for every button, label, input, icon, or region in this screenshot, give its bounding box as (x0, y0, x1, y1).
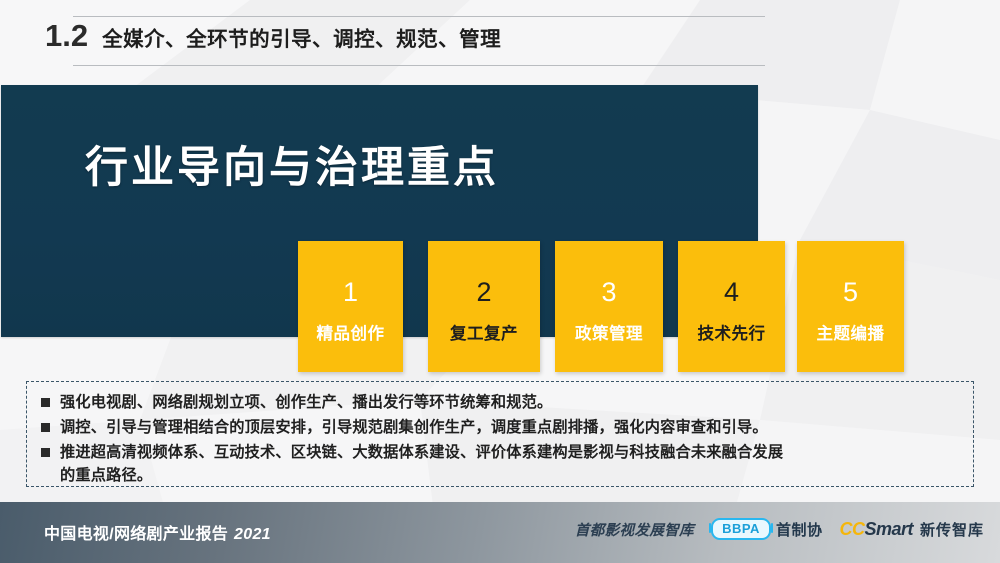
step-box-4[interactable]: 4 技术先行 (678, 241, 785, 372)
step-number-5: 5 (843, 279, 858, 306)
section-number: 1.2 (45, 20, 88, 51)
step-number-2: 2 (476, 279, 491, 306)
step-box-5[interactable]: 5 主题编播 (797, 241, 904, 372)
step-label-5: 主题编播 (817, 326, 885, 343)
step-label-2: 复工复产 (450, 326, 518, 343)
bbpa-logo: BBPA 首制协 (711, 518, 822, 540)
bullet-square-icon (41, 423, 50, 432)
bullet-text-3-continuation: 的重点路径。 (60, 464, 783, 487)
step-label-1: 精品创作 (317, 326, 385, 343)
section-title: 全媒介、全环节的引导、调控、规范、管理 (102, 30, 501, 51)
bullet-item: 调控、引导与管理相结合的顶层安排，引导规范剧集创作生产，调度重点剧排播，强化内容… (37, 416, 959, 439)
step-number-3: 3 (601, 279, 616, 306)
step-box-3[interactable]: 3 政策管理 (555, 241, 663, 372)
step-number-4: 4 (724, 279, 739, 306)
step-box-2[interactable]: 2 复工复产 (428, 241, 540, 372)
hero-panel-title: 行业导向与治理重点 (85, 147, 499, 190)
bullet-text-3-wrap: 推进超高清视频体系、互动技术、区块链、大数据体系建设、评价体系建构是影视与科技融… (60, 441, 783, 487)
bbpa-logo-label: 首制协 (776, 519, 823, 540)
step-box-group: 1 精品创作 2 复工复产 3 政策管理 4 技术先行 5 主题编播 (298, 241, 904, 372)
think-tank-logo: 首都影视发展智库 (575, 519, 694, 540)
footer-report-year: 2021 (234, 526, 271, 543)
bullet-list-box: 强化电视剧、网络剧规划立项、创作生产、播出发行等环节统筹和规范。 调控、引导与管… (26, 381, 974, 487)
slide-footer: 中国电视/网络剧产业报告2021 首都影视发展智库 BBPA 首制协 CCSma… (0, 502, 1000, 563)
bullet-text-2: 调控、引导与管理相结合的顶层安排，引导规范剧集创作生产，调度重点剧排播，强化内容… (60, 416, 768, 439)
step-box-1[interactable]: 1 精品创作 (298, 241, 403, 372)
step-label-4: 技术先行 (698, 326, 766, 343)
ccsmart-logo: CCSmart 新传智库 (839, 519, 984, 540)
bbpa-badge-icon: BBPA (711, 518, 771, 540)
ccsmart-cc-text: CC (839, 519, 864, 539)
footer-logo-group: 首都影视发展智库 BBPA 首制协 CCSmart 新传智库 (575, 518, 984, 540)
bullet-item: 推进超高清视频体系、互动技术、区块链、大数据体系建设、评价体系建构是影视与科技融… (37, 441, 959, 487)
footer-report-title-group: 中国电视/网络剧产业报告2021 (44, 520, 271, 544)
bullet-square-icon (41, 448, 50, 457)
ccsmart-logo-label: 新传智库 (920, 519, 984, 540)
slide-canvas: 1.2 全媒介、全环节的引导、调控、规范、管理 行业导向与治理重点 1 精品创作… (0, 0, 1000, 563)
bullet-text-3: 推进超高清视频体系、互动技术、区块链、大数据体系建设、评价体系建构是影视与科技融… (60, 444, 783, 461)
bullet-item: 强化电视剧、网络剧规划立项、创作生产、播出发行等环节统筹和规范。 (37, 391, 959, 414)
header-rule-bottom (73, 65, 765, 66)
bullet-text-1: 强化电视剧、网络剧规划立项、创作生产、播出发行等环节统筹和规范。 (60, 391, 552, 414)
ccsmart-wordmark: CCSmart (839, 519, 913, 540)
header-rule-top (73, 16, 765, 17)
step-number-1: 1 (343, 279, 358, 306)
bullet-square-icon (41, 398, 50, 407)
step-label-3: 政策管理 (575, 326, 643, 343)
slide-header: 1.2 全媒介、全环节的引导、调控、规范、管理 (45, 14, 765, 66)
footer-report-title: 中国电视/网络剧产业报告 (44, 526, 228, 543)
ccsmart-smart-text: Smart (864, 519, 913, 539)
